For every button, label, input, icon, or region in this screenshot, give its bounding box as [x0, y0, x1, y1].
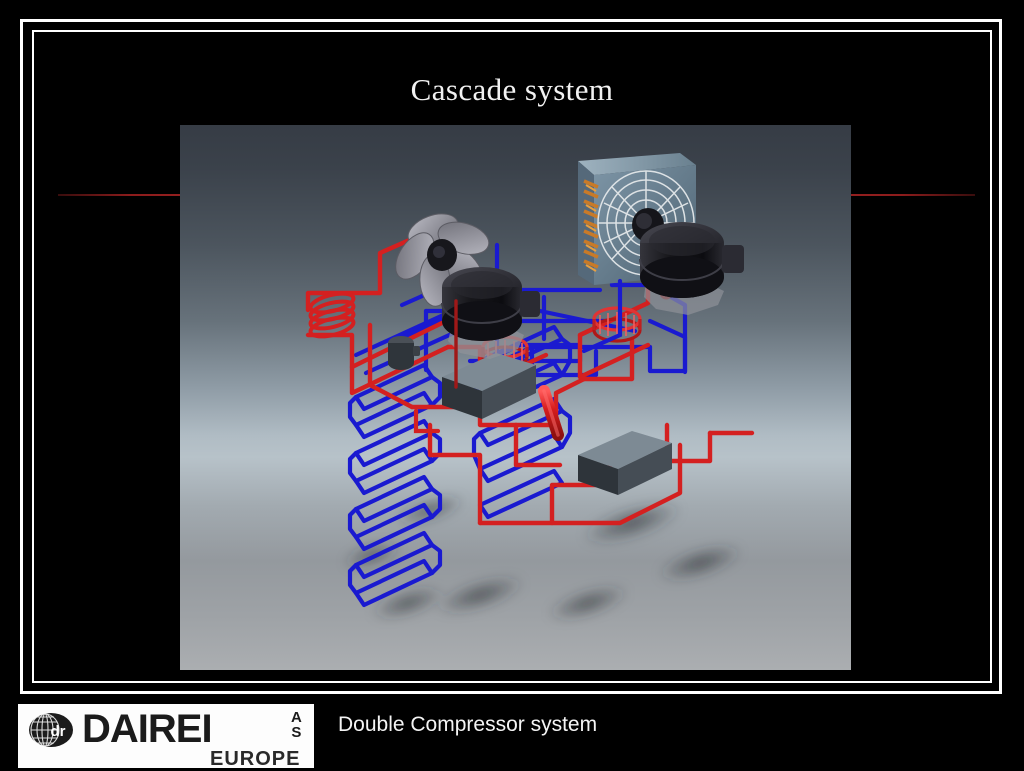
logo-wordmark: DAIREI — [82, 707, 212, 752]
cascade-heat-exchanger-2 — [578, 431, 672, 495]
cascade-system-diagram — [180, 125, 851, 670]
slide: Cascade system — [0, 0, 1024, 768]
page-title: Cascade system — [0, 72, 1024, 108]
compressor-right — [640, 222, 744, 315]
filter-drier-coil-1 — [309, 290, 356, 340]
illustration-panel — [180, 125, 851, 670]
svg-text:dr: dr — [51, 723, 66, 740]
globe-icon: dr — [28, 712, 74, 748]
company-logo: dr DAIREI A S EUROPE — [18, 704, 314, 768]
logo-suffix-s: S — [291, 725, 302, 740]
logo-suffix: A S — [291, 710, 302, 740]
footer-caption: Double Compressor system — [338, 713, 597, 737]
logo-suffix-a: A — [291, 710, 302, 725]
